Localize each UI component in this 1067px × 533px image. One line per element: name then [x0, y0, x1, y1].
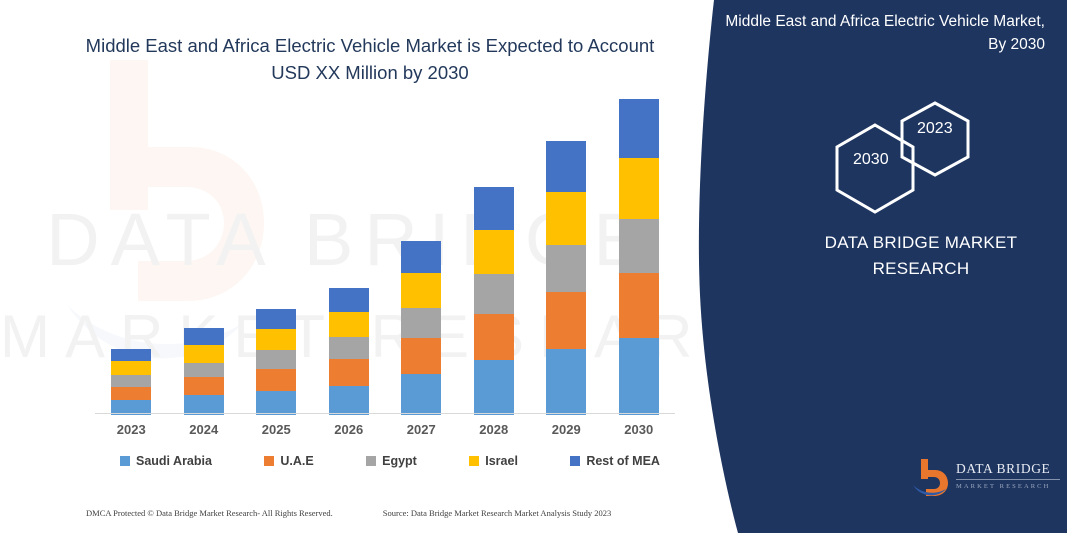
footer-copyright: DMCA Protected © Data Bridge Market Rese… — [86, 508, 333, 518]
bar-segment-2029-3 — [546, 192, 586, 245]
legend-label: Egypt — [382, 454, 417, 468]
x-tick-2029: 2029 — [530, 422, 602, 437]
bar-2026 — [329, 288, 369, 415]
bar-segment-2023-1 — [111, 387, 151, 401]
infographic-canvas: DATA BRIDGE MARKET RESEARCH Middle East … — [0, 0, 1067, 533]
chart-title: Middle East and Africa Electric Vehicle … — [70, 33, 670, 87]
bar-segment-2027-3 — [401, 273, 441, 308]
legend-label: Saudi Arabia — [136, 454, 212, 468]
bar-segment-2025-1 — [256, 369, 296, 391]
bar-2027 — [401, 241, 441, 415]
legend-swatch-icon — [120, 456, 130, 466]
legend-item-1[interactable]: U.A.E — [264, 454, 313, 468]
hexagon-outline-icon — [825, 95, 1005, 215]
databridge-logo: DATA BRIDGE MARKET RESEARCH — [912, 457, 1060, 499]
x-tick-2027: 2027 — [385, 422, 457, 437]
bar-segment-2026-2 — [329, 337, 369, 359]
bar-segment-2027-2 — [401, 308, 441, 338]
bar-segment-2029-1 — [546, 292, 586, 349]
footer-source: Source: Data Bridge Market Research Mark… — [383, 508, 612, 518]
hexagon-badges: 2030 2023 — [825, 95, 1005, 215]
legend-swatch-icon — [264, 456, 274, 466]
bar-chart-plot — [95, 100, 675, 415]
chart-baseline — [95, 413, 675, 414]
bar-segment-2024-0 — [184, 395, 224, 415]
bar-segment-2025-4 — [256, 309, 296, 329]
bar-segment-2024-1 — [184, 377, 224, 395]
legend-swatch-icon — [469, 456, 479, 466]
bar-segment-2026-0 — [329, 386, 369, 415]
x-tick-2030: 2030 — [603, 422, 675, 437]
bar-segment-2027-1 — [401, 338, 441, 374]
logo-text: DATA BRIDGE MARKET RESEARCH — [956, 461, 1060, 490]
bar-segment-2027-4 — [401, 241, 441, 274]
bar-segment-2023-4 — [111, 349, 151, 362]
x-axis-labels: 20232024202520262027202820292030 — [95, 422, 675, 444]
x-tick-2023: 2023 — [95, 422, 167, 437]
bar-2030 — [619, 99, 659, 415]
legend-item-4[interactable]: Rest of MEA — [570, 454, 660, 468]
bar-segment-2030-0 — [619, 338, 659, 415]
chart-panel: DATA BRIDGE MARKET RESEARCH Middle East … — [0, 0, 740, 533]
x-tick-2028: 2028 — [458, 422, 530, 437]
hex-label-2023: 2023 — [917, 120, 953, 138]
bar-segment-2026-3 — [329, 312, 369, 337]
legend-item-0[interactable]: Saudi Arabia — [120, 454, 212, 468]
bar-segment-2025-3 — [256, 329, 296, 350]
hex-label-2030: 2030 — [853, 151, 889, 169]
bar-segment-2029-0 — [546, 349, 586, 415]
bar-2029 — [546, 141, 586, 415]
legend-label: Israel — [485, 454, 518, 468]
x-tick-2024: 2024 — [168, 422, 240, 437]
legend-label: U.A.E — [280, 454, 313, 468]
bar-segment-2028-4 — [474, 187, 514, 230]
databridge-b-logo-icon — [912, 457, 952, 497]
bar-segment-2028-0 — [474, 360, 514, 415]
bar-segment-2026-1 — [329, 359, 369, 385]
bar-2028 — [474, 187, 514, 415]
bar-segment-2030-1 — [619, 273, 659, 338]
bar-2024 — [184, 328, 224, 415]
bar-segment-2030-2 — [619, 219, 659, 274]
brand-panel-title: Middle East and Africa Electric Vehicle … — [725, 10, 1045, 57]
bar-segment-2024-3 — [184, 345, 224, 363]
footer: DMCA Protected © Data Bridge Market Rese… — [86, 508, 686, 518]
bar-segment-2028-3 — [474, 230, 514, 274]
bar-segment-2029-4 — [546, 141, 586, 192]
bar-segment-2029-2 — [546, 245, 586, 292]
legend-swatch-icon — [366, 456, 376, 466]
bar-segment-2028-1 — [474, 314, 514, 360]
logo-title: DATA BRIDGE — [956, 461, 1060, 480]
bar-2023 — [111, 349, 151, 415]
bar-segment-2028-2 — [474, 274, 514, 314]
bar-segment-2023-2 — [111, 375, 151, 387]
bar-segment-2027-0 — [401, 374, 441, 415]
legend-swatch-icon — [570, 456, 580, 466]
bar-segment-2030-4 — [619, 99, 659, 158]
bar-segment-2026-4 — [329, 288, 369, 312]
bar-segment-2024-2 — [184, 363, 224, 378]
chart-legend: Saudi ArabiaU.A.EEgyptIsraelRest of MEA — [120, 454, 660, 468]
bar-segment-2024-4 — [184, 328, 224, 345]
bar-segment-2030-3 — [619, 158, 659, 219]
bar-segment-2023-3 — [111, 361, 151, 375]
bar-2025 — [256, 309, 296, 415]
legend-item-3[interactable]: Israel — [469, 454, 518, 468]
x-tick-2025: 2025 — [240, 422, 312, 437]
x-tick-2026: 2026 — [313, 422, 385, 437]
bar-segment-2025-0 — [256, 391, 296, 415]
brand-name: DATA BRIDGE MARKET RESEARCH — [790, 230, 1052, 281]
legend-item-2[interactable]: Egypt — [366, 454, 417, 468]
logo-subtitle: MARKET RESEARCH — [956, 483, 1060, 490]
legend-label: Rest of MEA — [586, 454, 660, 468]
bar-segment-2025-2 — [256, 350, 296, 369]
